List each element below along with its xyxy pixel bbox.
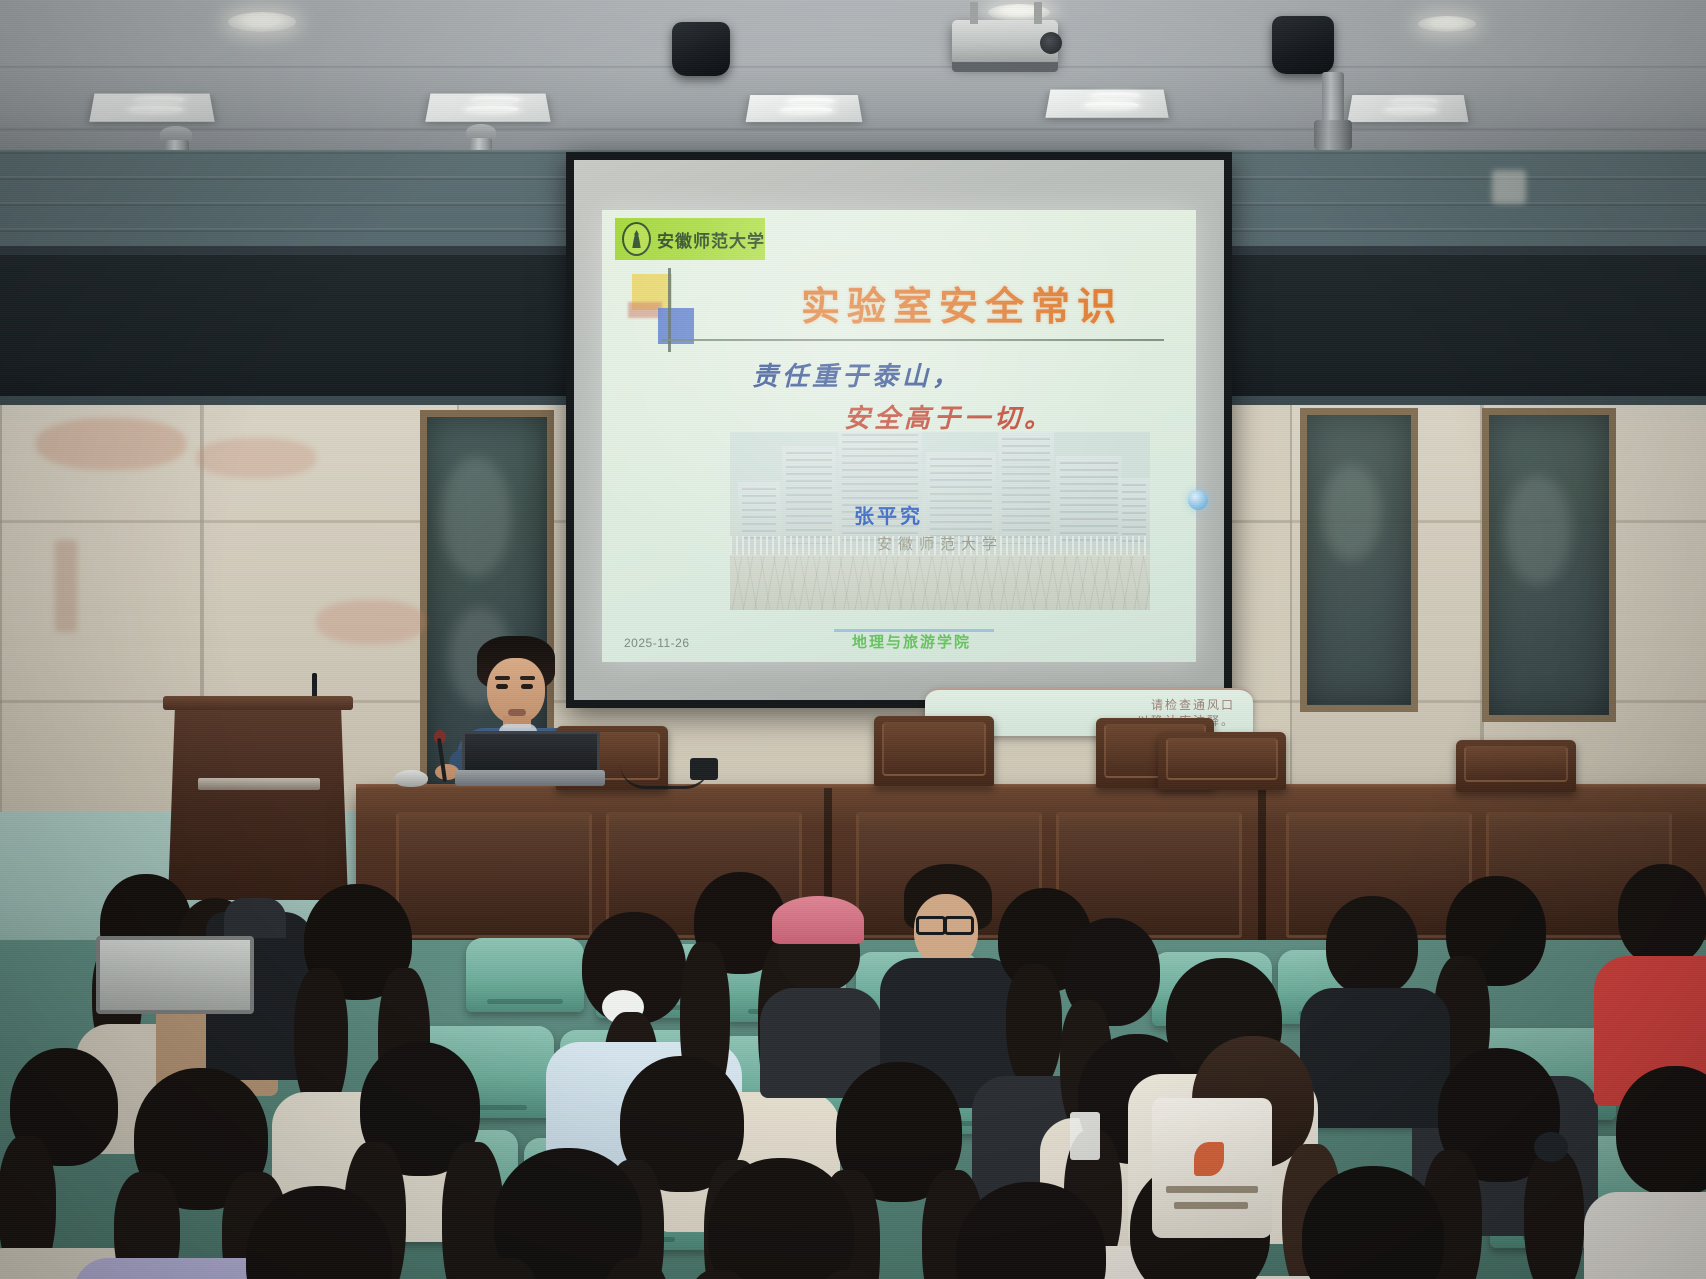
- stage-spotlight-left: [672, 22, 730, 76]
- podium-top: [163, 696, 353, 710]
- ceiling-panel-light-5: [1348, 95, 1469, 122]
- projection-screen: 安徽师范大学 实验室安全常识 责任重于泰山， 安全高于一切。: [566, 152, 1232, 708]
- tooltip-line1: 请检查通风口: [1151, 697, 1235, 713]
- projector-lens-icon: [1040, 32, 1062, 54]
- wall-stain-3: [316, 600, 426, 644]
- slide-presenter-name: 张平究: [854, 500, 923, 529]
- ceiling-panel-light-4: [1045, 89, 1168, 117]
- presentation-slide: 安徽师范大学 实验室安全常识 责任重于泰山， 安全高于一切。: [602, 210, 1196, 662]
- ceiling-seam-lower: [0, 128, 1706, 131]
- chalkboard-right-2: [1300, 408, 1418, 712]
- chair-2: [874, 716, 994, 786]
- tote-bag: [1152, 1098, 1272, 1238]
- university-seal-icon: [622, 222, 651, 256]
- seat-back-1: [466, 938, 584, 1012]
- projector-mount-1: [970, 2, 978, 24]
- university-logo-bar: 安徽师范大学: [615, 218, 765, 260]
- chair-5: [1456, 740, 1576, 792]
- bag-logo-icon: [1194, 1142, 1224, 1176]
- presenter-eye-right: [521, 684, 533, 689]
- paper-sheet: [1070, 1112, 1100, 1160]
- lecture-hall-photo: 安徽师范大学 实验室安全常识 责任重于泰山， 安全高于一切。: [0, 0, 1706, 1279]
- deco-square-red: [628, 302, 662, 318]
- podium-nameplate: [198, 778, 320, 790]
- bag-text-line1: [1166, 1186, 1258, 1193]
- screen-surface: 安徽师范大学 实验室安全常识 责任重于泰山， 安全高于一切。: [574, 160, 1224, 700]
- wall-stain-4: [55, 540, 77, 632]
- presenter-brow-left: [495, 676, 510, 680]
- laptop-base: [455, 770, 605, 786]
- av-device-box: [690, 758, 718, 780]
- wall-marking: [1492, 170, 1526, 204]
- slide-department: 地理与旅游学院: [852, 631, 971, 652]
- presenter-eye-left: [496, 684, 508, 689]
- spotlight-head-3: [1314, 120, 1352, 150]
- ceiling-panel-light-1: [89, 93, 214, 121]
- glasses-icon: [916, 916, 946, 935]
- projector-mount-2: [1034, 2, 1042, 24]
- bag-text-line2: [1174, 1202, 1248, 1209]
- campus-plaza: [730, 556, 1150, 610]
- slide-title-rule: [662, 339, 1164, 341]
- slide-subtitle-line1: 责任重于泰山，: [752, 356, 962, 393]
- slide-subtitle-line2: 安全高于一切。: [844, 398, 1054, 435]
- podium: [168, 700, 348, 900]
- screen-indicator-icon: [1188, 490, 1208, 510]
- ceiling-downlight-3: [1418, 16, 1476, 32]
- projector-shadow: [952, 62, 1058, 72]
- chair-4: [1158, 732, 1286, 790]
- ceiling-downlight-1: [228, 12, 296, 32]
- university-logo-text: 安徽师范大学: [657, 227, 765, 252]
- ceiling-panel-light-3: [746, 95, 863, 122]
- presenter-brow-right: [520, 676, 535, 680]
- campus-photo-caption: 安徽师范大学: [877, 533, 1003, 554]
- audience-tablet: [96, 936, 254, 1014]
- wall-stain-2: [196, 438, 316, 478]
- slide-date: 2025-11-26: [624, 636, 690, 650]
- slide-decoration: [632, 272, 704, 348]
- chalkboard-right: [1482, 408, 1616, 722]
- wall-stain-1: [36, 418, 186, 470]
- stage-spotlight-right: [1272, 16, 1334, 74]
- presenter-mouth: [508, 709, 526, 716]
- ceiling-seam: [0, 66, 1706, 70]
- ceiling-panel-light-2: [425, 93, 550, 121]
- slide-title: 实验室安全常识: [752, 276, 1172, 332]
- mouse-device: [394, 770, 428, 787]
- campus-photo: 安徽师范大学: [730, 432, 1150, 610]
